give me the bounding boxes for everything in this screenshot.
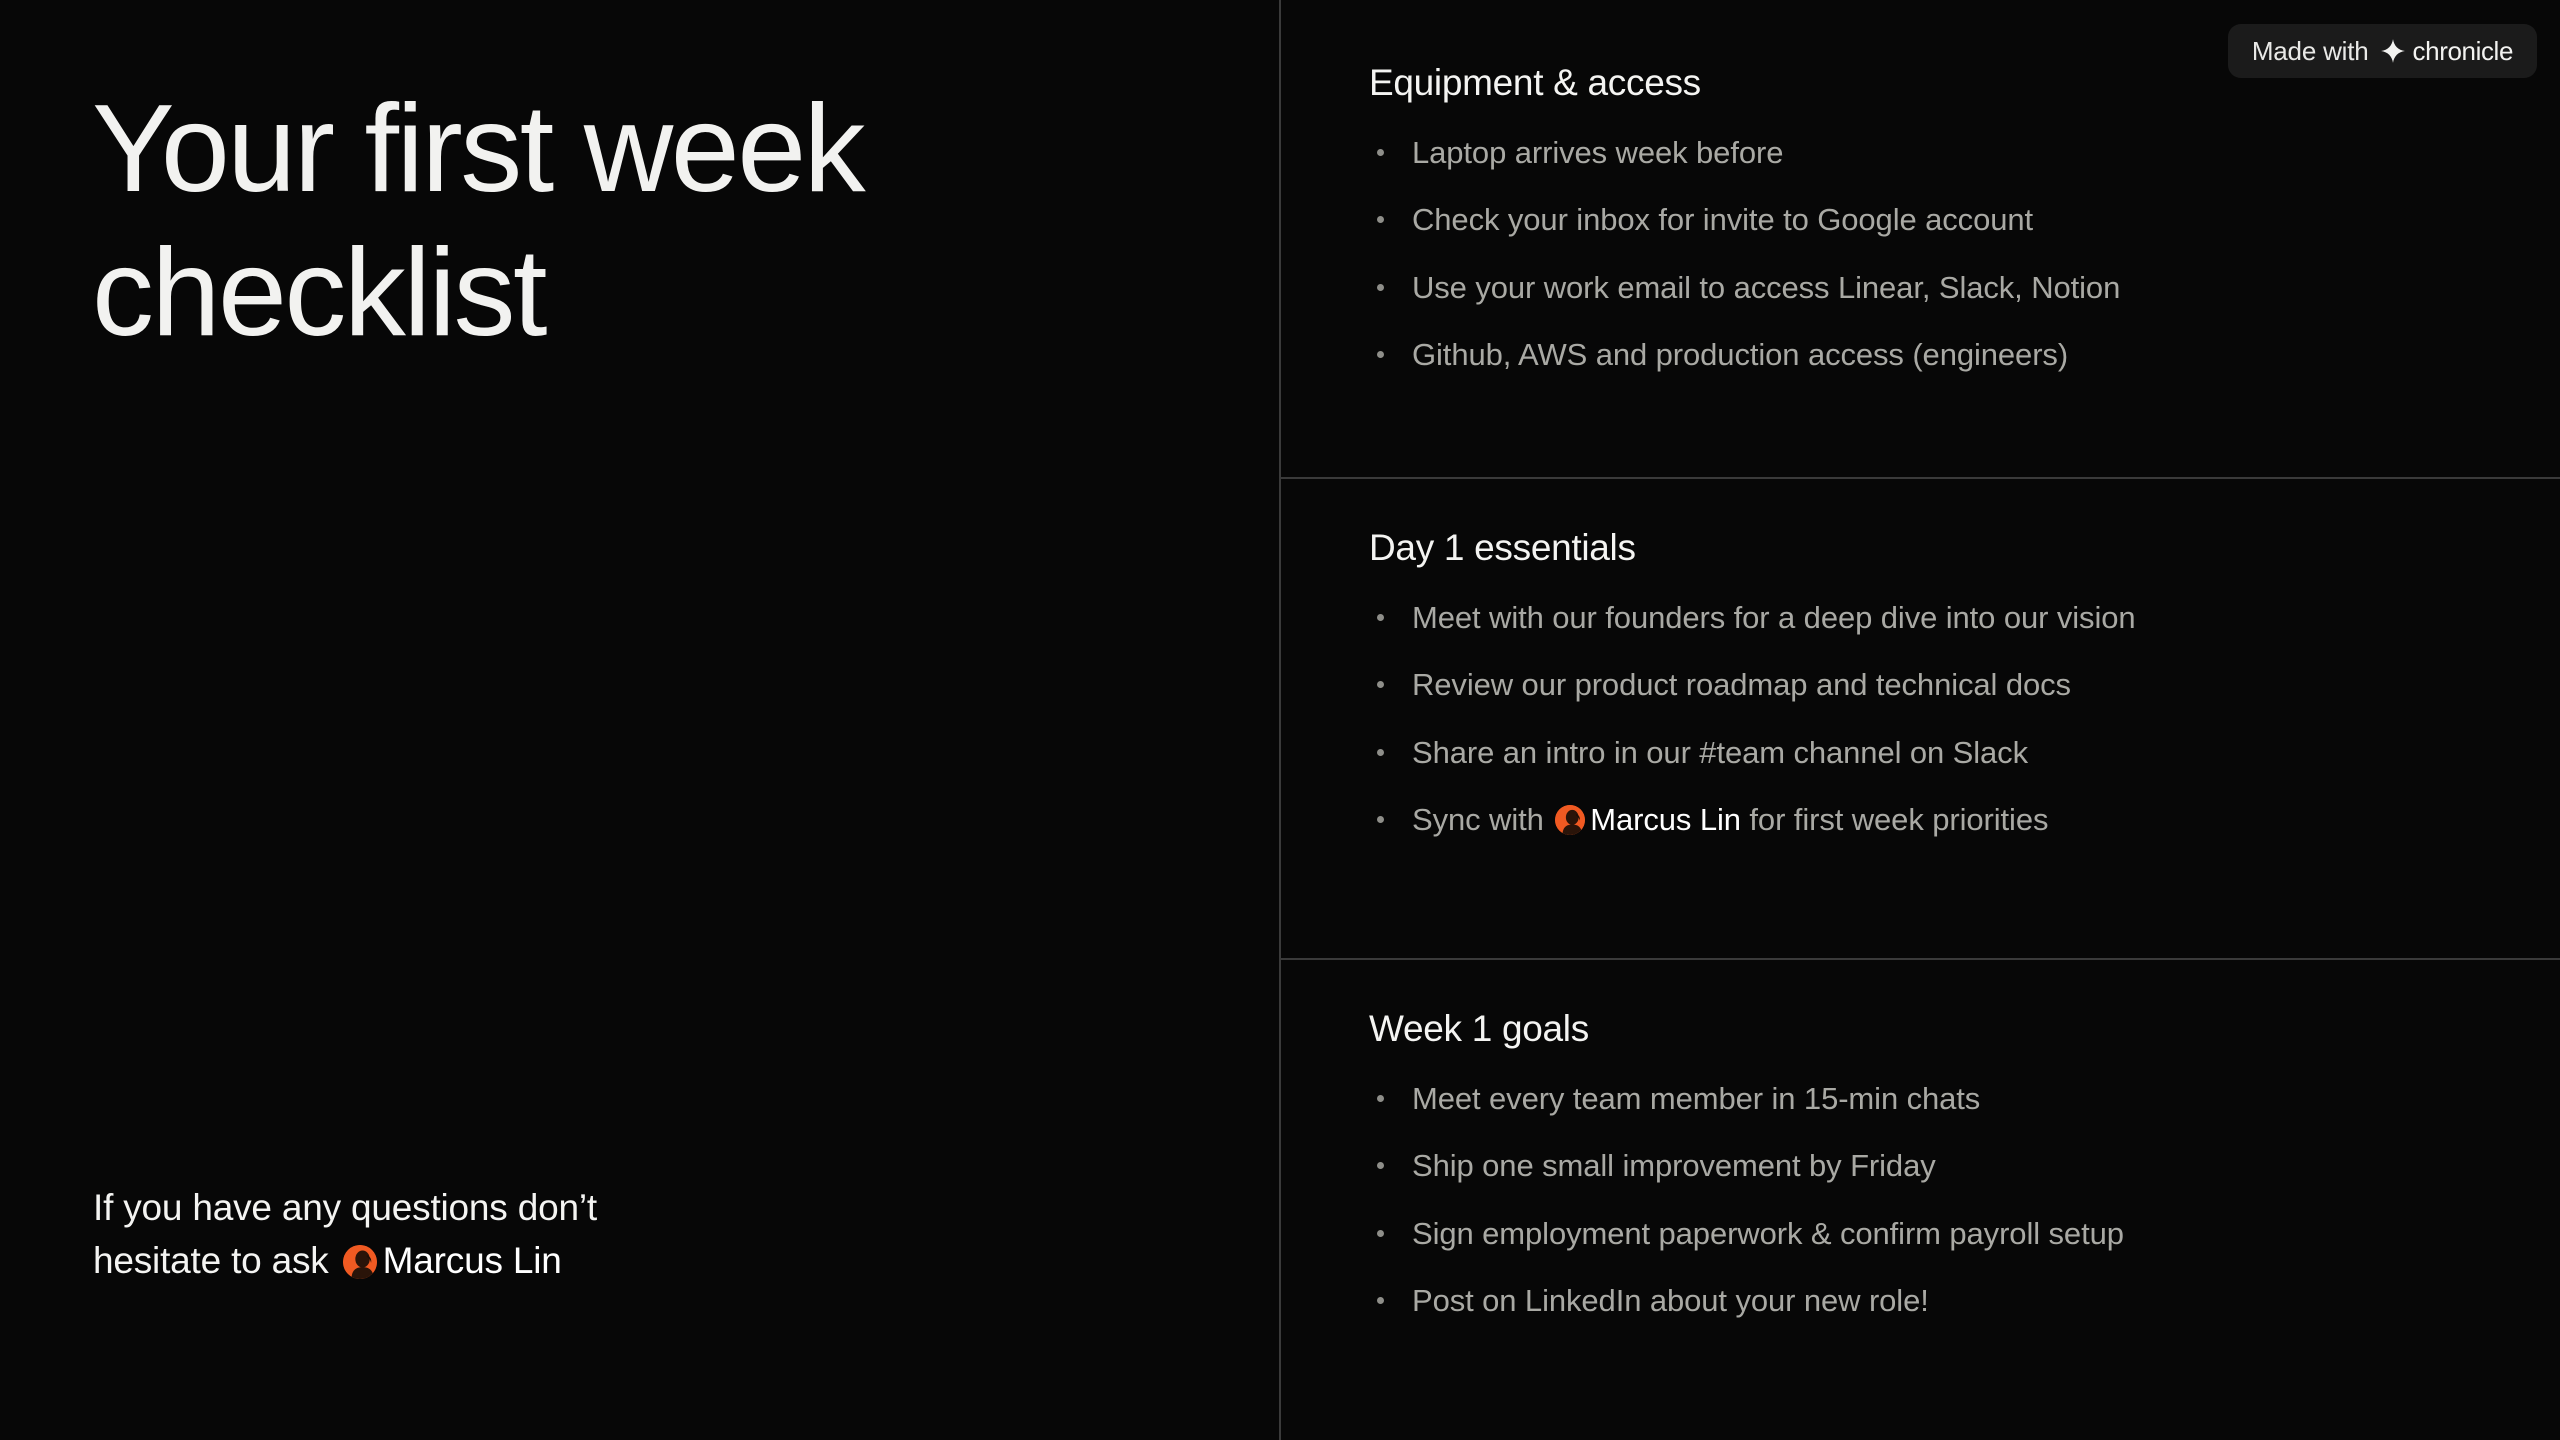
section-day-1-essentials: Day 1 essentials Meet with our founders … xyxy=(1281,477,2560,958)
section-week-1-goals: Week 1 goals Meet every team member in 1… xyxy=(1281,958,2560,1440)
right-panel: Equipment & access Laptop arrives week b… xyxy=(1281,0,2560,1440)
avatar xyxy=(343,1245,377,1279)
page-title: Your first week checklist xyxy=(92,78,1192,366)
list-item-with-mention: Sync with Marcus Lin for first week prio… xyxy=(1369,801,2500,839)
mention-name[interactable]: Marcus Lin xyxy=(1590,802,1741,837)
made-with-chronicle-badge[interactable]: Made with chronicle xyxy=(2228,24,2537,78)
list-item: Review our product roadmap and technical… xyxy=(1369,666,2500,704)
badge-brand-label: chronicle xyxy=(2413,36,2513,67)
list-item: Sign employment paperwork & confirm payr… xyxy=(1369,1215,2500,1253)
sparkle-icon xyxy=(2380,38,2406,64)
bullet-list: Laptop arrives week before Check your in… xyxy=(1369,134,2500,375)
section-heading: Week 1 goals xyxy=(1369,1008,2500,1050)
bullet-text-before: Sync with xyxy=(1412,802,1552,837)
slide-root: Made with chronicle Your first week chec… xyxy=(0,0,2560,1440)
bullet-list: Meet every team member in 15-min chats S… xyxy=(1369,1080,2500,1321)
list-item: Post on LinkedIn about your new role! xyxy=(1369,1282,2500,1320)
footnote-mention-name[interactable]: Marcus Lin xyxy=(383,1240,562,1281)
list-item: Check your inbox for invite to Google ac… xyxy=(1369,201,2500,239)
badge-prefix-label: Made with xyxy=(2252,36,2369,67)
list-item: Ship one small improvement by Friday xyxy=(1369,1147,2500,1185)
list-item: Share an intro in our #team channel on S… xyxy=(1369,734,2500,772)
list-item: Laptop arrives week before xyxy=(1369,134,2500,172)
left-panel: Your first week checklist If you have an… xyxy=(0,0,1281,1440)
footnote-contact: If you have any questions don’t hesitate… xyxy=(93,1182,733,1287)
bullet-text-after: for first week priorities xyxy=(1741,802,2048,837)
list-item: Meet with our founders for a deep dive i… xyxy=(1369,599,2500,637)
section-heading: Day 1 essentials xyxy=(1369,527,2500,569)
avatar xyxy=(1555,805,1585,835)
list-item: Github, AWS and production access (engin… xyxy=(1369,336,2500,374)
bullet-list: Meet with our founders for a deep dive i… xyxy=(1369,599,2500,840)
list-item: Use your work email to access Linear, Sl… xyxy=(1369,269,2500,307)
list-item: Meet every team member in 15-min chats xyxy=(1369,1080,2500,1118)
